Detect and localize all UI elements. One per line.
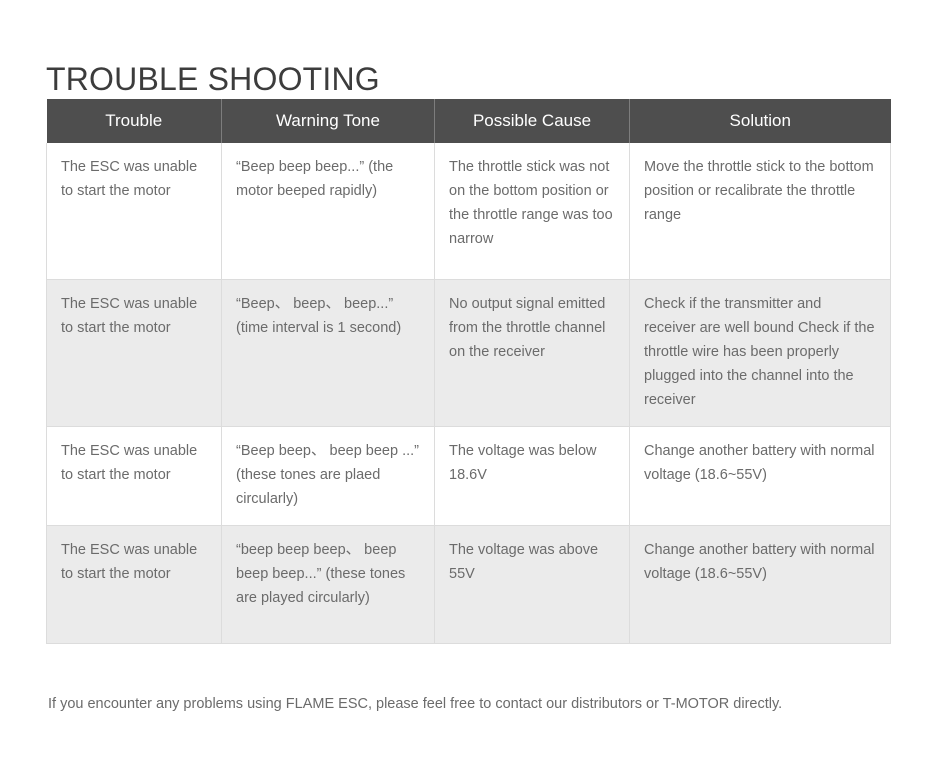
cell-solution: Change another battery with normal volta… bbox=[630, 426, 891, 525]
cell-warning-tone: “Beep beep、 beep beep ...” (these tones … bbox=[222, 426, 435, 525]
cell-possible-cause: The throttle stick was not on the bottom… bbox=[435, 143, 630, 279]
column-header-trouble: Trouble bbox=[47, 99, 222, 143]
troubleshooting-page: TROUBLE SHOOTING Trouble Warning Tone Po… bbox=[0, 0, 940, 768]
cell-solution: Check if the transmitter and receiver ar… bbox=[630, 279, 891, 426]
table-header-row: Trouble Warning Tone Possible Cause Solu… bbox=[47, 99, 891, 143]
footer-note: If you encounter any problems using FLAM… bbox=[48, 693, 782, 715]
page-title: TROUBLE SHOOTING bbox=[46, 59, 380, 99]
cell-trouble: The ESC was unable to start the motor bbox=[47, 279, 222, 426]
column-header-solution: Solution bbox=[630, 99, 891, 143]
column-header-possible-cause: Possible Cause bbox=[435, 99, 630, 143]
cell-warning-tone: “Beep beep beep...” (the motor beeped ra… bbox=[222, 143, 435, 279]
table-body: The ESC was unable to start the motor “B… bbox=[47, 143, 891, 643]
table-row: The ESC was unable to start the motor “B… bbox=[47, 279, 891, 426]
cell-solution: Move the throttle stick to the bottom po… bbox=[630, 143, 891, 279]
column-header-warning-tone: Warning Tone bbox=[222, 99, 435, 143]
cell-trouble: The ESC was unable to start the motor bbox=[47, 426, 222, 525]
cell-solution: Change another battery with normal volta… bbox=[630, 525, 891, 643]
table-row: The ESC was unable to start the motor “B… bbox=[47, 426, 891, 525]
cell-warning-tone: “Beep、 beep、 beep...” (time interval is … bbox=[222, 279, 435, 426]
table-row: The ESC was unable to start the motor “b… bbox=[47, 525, 891, 643]
cell-possible-cause: The voltage was above 55V bbox=[435, 525, 630, 643]
cell-warning-tone: “beep beep beep、 beep beep beep...” (the… bbox=[222, 525, 435, 643]
cell-trouble: The ESC was unable to start the motor bbox=[47, 143, 222, 279]
cell-possible-cause: The voltage was below 18.6V bbox=[435, 426, 630, 525]
troubleshooting-table: Trouble Warning Tone Possible Cause Solu… bbox=[46, 99, 891, 644]
table-row: The ESC was unable to start the motor “B… bbox=[47, 143, 891, 279]
cell-trouble: The ESC was unable to start the motor bbox=[47, 525, 222, 643]
table-header: Trouble Warning Tone Possible Cause Solu… bbox=[47, 99, 891, 143]
cell-possible-cause: No output signal emitted from the thrott… bbox=[435, 279, 630, 426]
